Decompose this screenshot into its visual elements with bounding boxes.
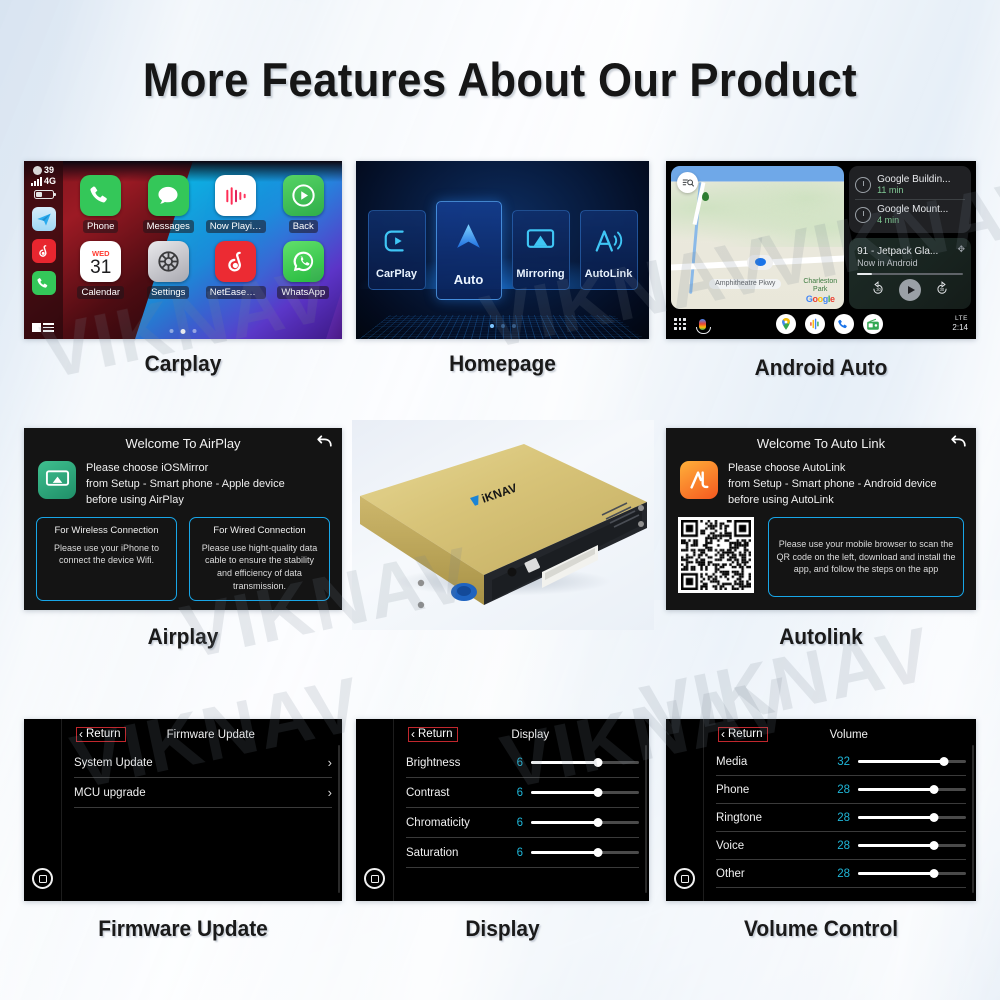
wireless-connection-box[interactable]: For Wireless Connection Please use your … <box>36 517 177 601</box>
feature-grid: 39 4G <box>0 0 1000 1000</box>
setting-row-ringtone[interactable]: Ringtone 28 <box>716 804 966 832</box>
setting-label: Ringtone <box>716 812 804 824</box>
android-auto-home: Amphitheatre Pkwy CharlestonPark Google … <box>666 161 976 339</box>
signal-bars-icon <box>31 177 42 186</box>
messages-icon[interactable] <box>148 175 189 216</box>
setting-label: Media <box>716 756 804 768</box>
panel-airplay[interactable]: Welcome To AirPlay Please choose iOSMirr… <box>24 428 342 610</box>
back-arrow-icon[interactable] <box>949 433 968 452</box>
panel-caption: Airplay <box>32 624 334 650</box>
nav-title: Google Mount... <box>877 204 948 215</box>
media-progress[interactable] <box>857 273 963 275</box>
forward-30-icon[interactable]: 30 <box>935 281 949 298</box>
return-label: Return <box>86 728 121 740</box>
settings-icon[interactable] <box>148 241 189 282</box>
tile-label: Mirroring <box>516 268 564 280</box>
airplay-instruction-row: Please choose iOSMirror from Setup - Sma… <box>32 451 334 509</box>
carplay-sidebar[interactable]: 39 4G <box>24 161 63 339</box>
carplay-app[interactable]: WED 31 Calendar <box>68 235 134 299</box>
brightness-slider[interactable] <box>531 757 639 769</box>
setting-label: Voice <box>716 840 804 852</box>
phone-icon[interactable] <box>32 271 56 295</box>
telegram-icon[interactable] <box>32 207 56 231</box>
chevron-left-icon: ‹ <box>411 728 415 740</box>
setting-value: 28 <box>824 812 850 824</box>
panel-caption: Display <box>363 916 641 942</box>
setting-label: Saturation <box>406 847 494 859</box>
box-title: For Wireless Connection <box>44 525 169 536</box>
setting-value: 6 <box>497 757 523 769</box>
tile-autolink[interactable]: AutoLink <box>580 210 638 290</box>
panel-caption: Android Auto <box>674 355 969 381</box>
app-label: Calendar <box>77 286 124 299</box>
netease-music-icon[interactable] <box>215 241 256 282</box>
media-volume-slider[interactable] <box>858 756 966 768</box>
panel-caption: Carplay <box>32 351 334 377</box>
autolink-icon <box>680 461 718 499</box>
app-label: Settings <box>147 286 189 299</box>
panel-product-photo: iKNAV <box>352 420 654 630</box>
clock-label: 2:14 <box>952 323 968 333</box>
menu-item-mcu-upgrade[interactable]: MCU upgrade › <box>74 778 332 808</box>
product-image: iKNAV <box>352 420 654 630</box>
carplay-app-grid[interactable]: Phone Messages <box>68 169 336 299</box>
screen-title: Display <box>458 729 603 741</box>
setting-value: 32 <box>824 756 850 768</box>
setting-value: 6 <box>497 847 523 859</box>
nav-eta: 11 min <box>877 185 950 195</box>
autolink-screen[interactable]: Welcome To Auto Link Please choose AutoL… <box>666 428 976 610</box>
nav-title: Google Buildin... <box>877 174 950 185</box>
box-body: Please use your mobile browser to scan t… <box>776 538 956 576</box>
panel-caption: Volume Control <box>674 916 969 942</box>
airplay-connection-boxes: For Wireless Connection Please use your … <box>32 509 334 601</box>
android-auto-screen[interactable]: Amphitheatre Pkwy CharlestonPark Google … <box>666 161 976 339</box>
setting-row-media[interactable]: Media 32 <box>716 748 966 776</box>
autolink-setup: Welcome To Auto Link Please choose AutoL… <box>666 428 976 610</box>
app-list-icon[interactable] <box>32 323 54 332</box>
chromaticity-slider[interactable] <box>531 817 639 829</box>
airplay-icon <box>38 461 76 499</box>
setting-row-chromaticity[interactable]: Chromaticity 6 <box>406 808 639 838</box>
instruction-line: from Setup - Smart phone - Android devic… <box>728 477 937 493</box>
calendar-icon[interactable]: WED 31 <box>80 241 121 282</box>
maps-icon[interactable] <box>776 314 796 334</box>
airplay-instructions: Please choose iOSMirror from Setup - Sma… <box>86 461 285 509</box>
status-dot-icon <box>33 166 42 175</box>
system-status: LTE 2:14 <box>952 315 968 333</box>
map-pin-icon <box>702 192 709 201</box>
setting-label: Chromaticity <box>406 817 494 829</box>
clock-icon <box>855 177 871 193</box>
firmware-menu: ‹ Return Firmware Update System Update ›… <box>24 719 342 901</box>
app-label: Messages <box>143 220 194 233</box>
nav-suggestions-card[interactable]: Google Buildin... 11 min Google Mount...… <box>849 166 971 233</box>
setting-value: 28 <box>824 868 850 880</box>
volume-screen[interactable]: ‹ Return Volume Media 32 Phone <box>666 719 976 901</box>
panel-autolink[interactable]: Welcome To Auto Link Please choose AutoL… <box>666 428 976 610</box>
carplay-app[interactable]: NetEaseMu... <box>203 235 269 299</box>
chevron-left-icon: ‹ <box>721 728 725 740</box>
current-location-marker <box>747 255 773 270</box>
radio-icon[interactable] <box>863 314 883 334</box>
tile-label: AutoLink <box>585 268 633 280</box>
carplay-app[interactable]: WhatsApp <box>271 235 337 299</box>
network-label: 4G <box>44 176 56 186</box>
home-icon[interactable] <box>364 868 385 889</box>
setting-value: 6 <box>497 817 523 829</box>
homepage-launcher: CarPlay Auto <box>356 161 649 339</box>
setting-row-contrast[interactable]: Contrast 6 <box>406 778 639 808</box>
qr-code <box>678 517 754 593</box>
carplay-status: 39 <box>33 165 54 175</box>
voice-volume-slider[interactable] <box>858 840 966 852</box>
nav-eta: 4 min <box>877 215 948 225</box>
panel-android-auto[interactable]: Amphitheatre Pkwy CharlestonPark Google … <box>666 161 976 339</box>
home-icon[interactable] <box>32 868 53 889</box>
mirroring-icon <box>524 224 557 257</box>
home-icon[interactable] <box>674 868 695 889</box>
map-view[interactable]: Amphitheatre Pkwy CharlestonPark Google <box>671 166 844 309</box>
setting-row-voice[interactable]: Voice 28 <box>716 832 966 860</box>
box-body: Please use hight-quality data cable to e… <box>197 542 322 592</box>
setting-value: 28 <box>824 840 850 852</box>
android-auto-icon <box>452 220 485 253</box>
box-body: Please use your iPhone to connect the de… <box>44 542 169 567</box>
setting-value: 28 <box>824 784 850 796</box>
tile-mirroring[interactable]: Mirroring <box>512 210 570 290</box>
menu-header: ‹ Return Firmware Update <box>74 719 332 748</box>
network-status: LTE <box>952 315 968 323</box>
back-icon[interactable] <box>283 175 324 216</box>
setting-row-phone[interactable]: Phone 28 <box>716 776 966 804</box>
autolink-icon <box>592 224 625 257</box>
back-arrow-icon[interactable] <box>315 433 334 452</box>
instruction-line: Please choose AutoLink <box>728 461 937 477</box>
tile-carplay[interactable]: CarPlay <box>368 210 426 290</box>
panel-display[interactable]: ‹ Return Display Brightness 6 Contrast <box>356 719 649 901</box>
tile-label: CarPlay <box>376 268 417 280</box>
chevron-right-icon: › <box>328 755 332 770</box>
menu-header: ‹ Return Display <box>406 719 639 748</box>
display-menu: ‹ Return Display Brightness 6 Contrast <box>356 719 649 901</box>
street-label: Amphitheatre Pkwy <box>709 279 781 289</box>
setting-label: Brightness <box>406 757 494 769</box>
calendar-weekday: WED <box>92 250 110 258</box>
screen-title: Welcome To AirPlay <box>32 434 334 451</box>
media-subtitle: Now in Android <box>857 258 963 268</box>
phone-volume-slider[interactable] <box>858 784 966 796</box>
app-label: WhatsApp <box>277 286 329 299</box>
android-auto-taskbar[interactable]: LTE 2:14 <box>666 309 976 339</box>
battery-icon <box>34 190 54 199</box>
carplay-app[interactable]: Messages <box>136 169 202 233</box>
phone-icon[interactable] <box>834 314 854 334</box>
return-label: Return <box>418 728 453 740</box>
autolink-instruction-box[interactable]: Please use your mobile browser to scan t… <box>768 517 964 597</box>
screen-title: Firmware Update <box>126 729 296 741</box>
menu-sidebar <box>24 719 62 901</box>
microphone-icon[interactable] <box>699 319 706 330</box>
panel-firmware-update[interactable]: ‹ Return Firmware Update System Update ›… <box>24 719 342 901</box>
screen-title: Volume <box>768 729 930 741</box>
assistant-icon[interactable] <box>805 314 825 334</box>
whatsapp-icon[interactable] <box>283 241 324 282</box>
instruction-line: Please choose iOSMirror <box>86 461 285 477</box>
autolink-instructions: Please choose AutoLink from Setup - Smar… <box>728 461 937 509</box>
setting-row-brightness[interactable]: Brightness 6 <box>406 748 639 778</box>
media-card[interactable]: ✥ 91 - Jetpack Gla... Now in Android 30 <box>849 238 971 309</box>
panel-caption: Autolink <box>674 624 969 650</box>
menu-body: ‹ Return Firmware Update System Update ›… <box>62 719 342 901</box>
autolink-instruction-row: Please choose AutoLink from Setup - Smar… <box>674 451 968 509</box>
item-label: MCU upgrade <box>74 787 146 799</box>
app-label: NetEaseMu... <box>206 286 266 299</box>
carplay-screen[interactable]: 39 4G <box>24 161 342 339</box>
menu-sidebar <box>666 719 704 901</box>
carplay-home: 39 4G <box>24 161 342 339</box>
return-button[interactable]: ‹ Return <box>718 727 768 742</box>
setting-label: Phone <box>716 784 804 796</box>
tile-auto[interactable]: Auto <box>436 201 502 300</box>
menu-header: ‹ Return Volume <box>716 719 966 748</box>
instruction-line: before using AirPlay <box>86 493 285 509</box>
app-label: Now Playing <box>206 220 266 233</box>
dock[interactable] <box>706 314 952 334</box>
nav-suggestion[interactable]: Google Mount... 4 min <box>855 199 965 229</box>
android-auto-cards: Google Buildin... 11 min Google Mount...… <box>849 166 971 309</box>
app-label: Phone <box>83 220 118 233</box>
rewind-30-icon[interactable]: 30 <box>871 281 885 298</box>
scrollbar[interactable] <box>645 745 647 893</box>
status-number: 39 <box>44 165 54 175</box>
chevron-left-icon: ‹ <box>79 728 83 740</box>
scrollbar[interactable] <box>972 745 974 893</box>
carplay-signal: 4G <box>31 176 56 186</box>
search-icon[interactable] <box>677 172 698 193</box>
ringtone-volume-slider[interactable] <box>858 812 966 824</box>
media-title: 91 - Jetpack Gla... <box>857 246 963 257</box>
phone-icon[interactable] <box>80 175 121 216</box>
nav-suggestion[interactable]: Google Buildin... 11 min <box>855 170 965 199</box>
return-button[interactable]: ‹ Return <box>408 727 458 742</box>
other-volume-slider[interactable] <box>858 868 966 880</box>
google-logo: Google <box>803 294 837 304</box>
firmware-screen[interactable]: ‹ Return Firmware Update System Update ›… <box>24 719 342 901</box>
scrollbar[interactable] <box>338 745 340 893</box>
return-button[interactable]: ‹ Return <box>76 727 126 742</box>
setting-value: 6 <box>497 787 523 799</box>
page-indicator[interactable] <box>490 324 516 328</box>
contrast-slider[interactable] <box>531 787 639 799</box>
screen-title: Welcome To Auto Link <box>674 434 968 451</box>
panel-caption: Homepage <box>363 351 641 377</box>
panel-caption: Firmware Update <box>32 916 334 942</box>
park-label: CharlestonPark Google <box>803 278 837 304</box>
android-auto-content: Amphitheatre Pkwy CharlestonPark Google … <box>666 161 976 309</box>
box-title: For Wired Connection <box>197 525 322 536</box>
wired-connection-box[interactable]: For Wired Connection Please use hight-qu… <box>189 517 330 601</box>
menu-body: ‹ Return Volume Media 32 Phone <box>704 719 976 901</box>
page-indicator[interactable] <box>170 329 197 334</box>
saturation-slider[interactable] <box>531 847 639 859</box>
menu-item-system-update[interactable]: System Update › <box>74 748 332 778</box>
setting-row-saturation[interactable]: Saturation 6 <box>406 838 639 868</box>
tile-label: Auto <box>454 272 484 287</box>
chevron-right-icon: › <box>328 785 332 800</box>
panel-volume[interactable]: ‹ Return Volume Media 32 Phone <box>666 719 976 901</box>
netease-music-icon[interactable] <box>32 239 56 263</box>
setting-label: Other <box>716 868 804 880</box>
clock-icon <box>855 207 871 223</box>
airplay-screen[interactable]: Welcome To AirPlay Please choose iOSMirr… <box>24 428 342 610</box>
app-launcher-icon[interactable] <box>674 318 687 330</box>
cast-icon[interactable]: ✥ <box>957 244 965 255</box>
now-playing-icon[interactable] <box>215 175 256 216</box>
play-button[interactable] <box>899 279 921 301</box>
item-label: System Update <box>74 757 153 769</box>
calendar-date: 31 <box>90 258 111 277</box>
panel-homepage[interactable]: CarPlay Auto <box>356 161 649 339</box>
setting-row-other[interactable]: Other 28 <box>716 860 966 888</box>
display-screen[interactable]: ‹ Return Display Brightness 6 Contrast <box>356 719 649 901</box>
carplay-app[interactable]: Settings <box>136 235 202 299</box>
instruction-line: before using AutoLink <box>728 493 937 509</box>
carplay-app[interactable]: Phone <box>68 169 134 233</box>
svg-text:30: 30 <box>940 287 945 292</box>
carplay-app[interactable]: Now Playing <box>203 169 269 233</box>
carplay-icon <box>380 224 413 257</box>
app-label: Back <box>289 220 318 233</box>
setting-label: Contrast <box>406 787 494 799</box>
product-illustration: iKNAV <box>352 420 654 630</box>
media-controls[interactable]: 30 30 <box>857 279 963 301</box>
svg-text:30: 30 <box>876 287 881 292</box>
autolink-qr-row: Please use your mobile browser to scan t… <box>674 509 968 597</box>
panel-carplay[interactable]: 39 4G <box>24 161 342 339</box>
volume-menu: ‹ Return Volume Media 32 Phone <box>666 719 976 901</box>
return-label: Return <box>728 728 763 740</box>
menu-sidebar <box>356 719 394 901</box>
homepage-screen[interactable]: CarPlay Auto <box>356 161 649 339</box>
instruction-line: from Setup - Smart phone - Apple device <box>86 477 285 493</box>
airplay-setup: Welcome To AirPlay Please choose iOSMirr… <box>24 428 342 610</box>
menu-body: ‹ Return Display Brightness 6 Contrast <box>394 719 649 901</box>
carplay-app[interactable]: Back <box>271 169 337 233</box>
launcher-tiles[interactable]: CarPlay Auto <box>356 161 649 339</box>
